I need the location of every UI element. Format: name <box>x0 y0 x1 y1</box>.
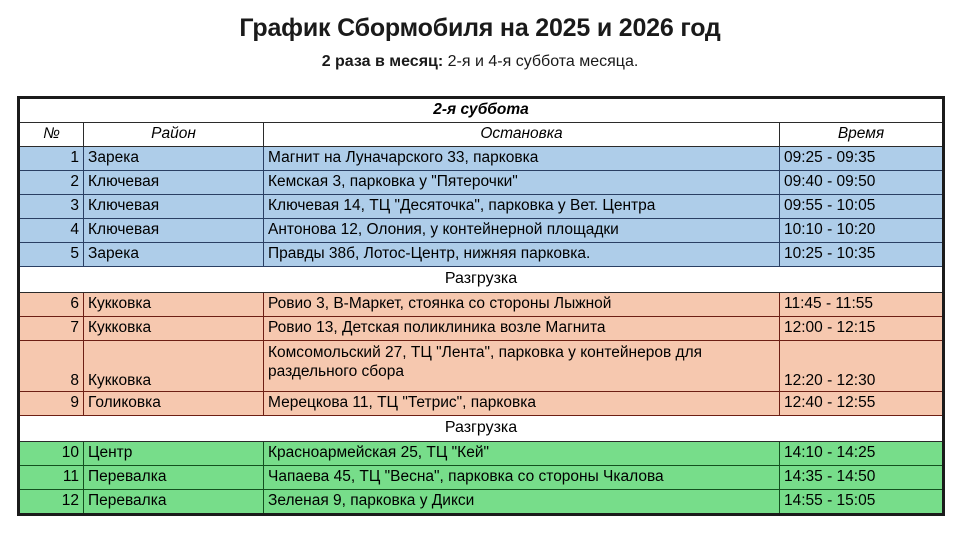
row-district: Ключевая <box>84 219 264 243</box>
table-row[interactable]: 8КукковкаКомсомольский 27, ТЦ "Лента", п… <box>19 341 944 392</box>
table-band-header-row: 2-я суббота <box>19 98 944 123</box>
schedule-table-body: 2-я суббота № Район Остановка Время 1Зар… <box>19 98 944 515</box>
row-stop: Ровио 3, В-Маркет, стоянка со стороны Лы… <box>264 293 780 317</box>
row-district: Ключевая <box>84 195 264 219</box>
row-time: 09:40 - 09:50 <box>780 171 944 195</box>
row-stop: Зеленая 9, парковка у Дикси <box>264 490 780 515</box>
table-row[interactable]: 3КлючеваяКлючевая 14, ТЦ "Десяточка", па… <box>19 195 944 219</box>
unload-separator-row: Разгрузка <box>19 267 944 293</box>
column-header-time: Время <box>780 123 944 147</box>
row-district: Кукковка <box>84 317 264 341</box>
row-district: Перевалка <box>84 490 264 515</box>
row-time: 14:10 - 14:25 <box>780 442 944 466</box>
row-number: 7 <box>19 317 84 341</box>
row-time: 09:25 - 09:35 <box>780 147 944 171</box>
table-row[interactable]: 10ЦентрКрасноармейская 25, ТЦ "Кей"14:10… <box>19 442 944 466</box>
page-title: График Сбормобиля на 2025 и 2026 год <box>0 14 960 43</box>
subtitle-strong: 2 раза в месяц: <box>322 53 444 70</box>
table-row[interactable]: 1ЗарекаМагнит на Луначарского 33, парков… <box>19 147 944 171</box>
table-row[interactable]: 2КлючеваяКемская 3, парковка у "Пятерочк… <box>19 171 944 195</box>
page-subtitle: 2 раза в месяц: 2-я и 4-я суббота месяца… <box>0 52 960 71</box>
row-time: 14:35 - 14:50 <box>780 466 944 490</box>
row-time: 14:55 - 15:05 <box>780 490 944 515</box>
row-stop: Красноармейская 25, ТЦ "Кей" <box>264 442 780 466</box>
row-district: Голиковка <box>84 392 264 416</box>
row-district: Зарека <box>84 243 264 267</box>
row-district: Ключевая <box>84 171 264 195</box>
unload-separator-row: Разгрузка <box>19 416 944 442</box>
row-time: 12:40 - 12:55 <box>780 392 944 416</box>
row-number: 12 <box>19 490 84 515</box>
row-district: Кукковка <box>84 293 264 317</box>
row-stop: Кемская 3, парковка у "Пятерочки" <box>264 171 780 195</box>
row-number: 8 <box>19 341 84 392</box>
row-time: 10:25 - 10:35 <box>780 243 944 267</box>
unload-label: Разгрузка <box>19 267 944 293</box>
column-header-district: Район <box>84 123 264 147</box>
row-district: Центр <box>84 442 264 466</box>
table-row[interactable]: 4КлючеваяАнтонова 12, Олония, у контейне… <box>19 219 944 243</box>
row-number: 6 <box>19 293 84 317</box>
schedule-table: 2-я суббота № Район Остановка Время 1Зар… <box>17 96 945 516</box>
table-row[interactable]: 9ГоликовкаМерецкова 11, ТЦ "Тетрис", пар… <box>19 392 944 416</box>
table-row[interactable]: 11ПеревалкаЧапаева 45, ТЦ "Весна", парко… <box>19 466 944 490</box>
row-time: 12:00 - 12:15 <box>780 317 944 341</box>
row-number: 2 <box>19 171 84 195</box>
schedule-table-wrapper: 2-я суббота № Район Остановка Время 1Зар… <box>17 96 942 516</box>
row-stop: Магнит на Луначарского 33, парковка <box>264 147 780 171</box>
table-row[interactable]: 5ЗарекаПравды 38б, Лотос-Центр, нижняя п… <box>19 243 944 267</box>
title-block: График Сбормобиля на 2025 и 2026 год 2 р… <box>0 0 960 71</box>
column-header-stop: Остановка <box>264 123 780 147</box>
row-number: 1 <box>19 147 84 171</box>
subtitle-rest: 2-я и 4-я суббота месяца. <box>443 53 638 70</box>
row-stop: Ключевая 14, ТЦ "Десяточка", парковка у … <box>264 195 780 219</box>
row-number: 11 <box>19 466 84 490</box>
unload-label: Разгрузка <box>19 416 944 442</box>
row-time: 10:10 - 10:20 <box>780 219 944 243</box>
table-column-header-row: № Район Остановка Время <box>19 123 944 147</box>
row-district: Кукковка <box>84 341 264 392</box>
row-district: Зарека <box>84 147 264 171</box>
row-number: 4 <box>19 219 84 243</box>
row-time: 09:55 - 10:05 <box>780 195 944 219</box>
row-number: 10 <box>19 442 84 466</box>
row-district: Перевалка <box>84 466 264 490</box>
row-number: 9 <box>19 392 84 416</box>
row-stop: Антонова 12, Олония, у контейнерной площ… <box>264 219 780 243</box>
table-row[interactable]: 6КукковкаРовио 3, В-Маркет, стоянка со с… <box>19 293 944 317</box>
row-time: 11:45 - 11:55 <box>780 293 944 317</box>
table-row[interactable]: 7КукковкаРовио 13, Детская поликлиника в… <box>19 317 944 341</box>
table-row[interactable]: 12ПеревалкаЗеленая 9, парковка у Дикси14… <box>19 490 944 515</box>
row-stop: Комсомольский 27, ТЦ "Лента", парковка у… <box>264 341 780 392</box>
row-stop: Мерецкова 11, ТЦ "Тетрис", парковка <box>264 392 780 416</box>
row-stop: Правды 38б, Лотос-Центр, нижняя парковка… <box>264 243 780 267</box>
row-stop: Ровио 13, Детская поликлиника возле Магн… <box>264 317 780 341</box>
column-header-num: № <box>19 123 84 147</box>
schedule-page: График Сбормобиля на 2025 и 2026 год 2 р… <box>0 0 960 540</box>
row-number: 3 <box>19 195 84 219</box>
row-number: 5 <box>19 243 84 267</box>
row-stop: Чапаева 45, ТЦ "Весна", парковка со стор… <box>264 466 780 490</box>
row-time: 12:20 - 12:30 <box>780 341 944 392</box>
band-title: 2-я суббота <box>19 98 944 123</box>
